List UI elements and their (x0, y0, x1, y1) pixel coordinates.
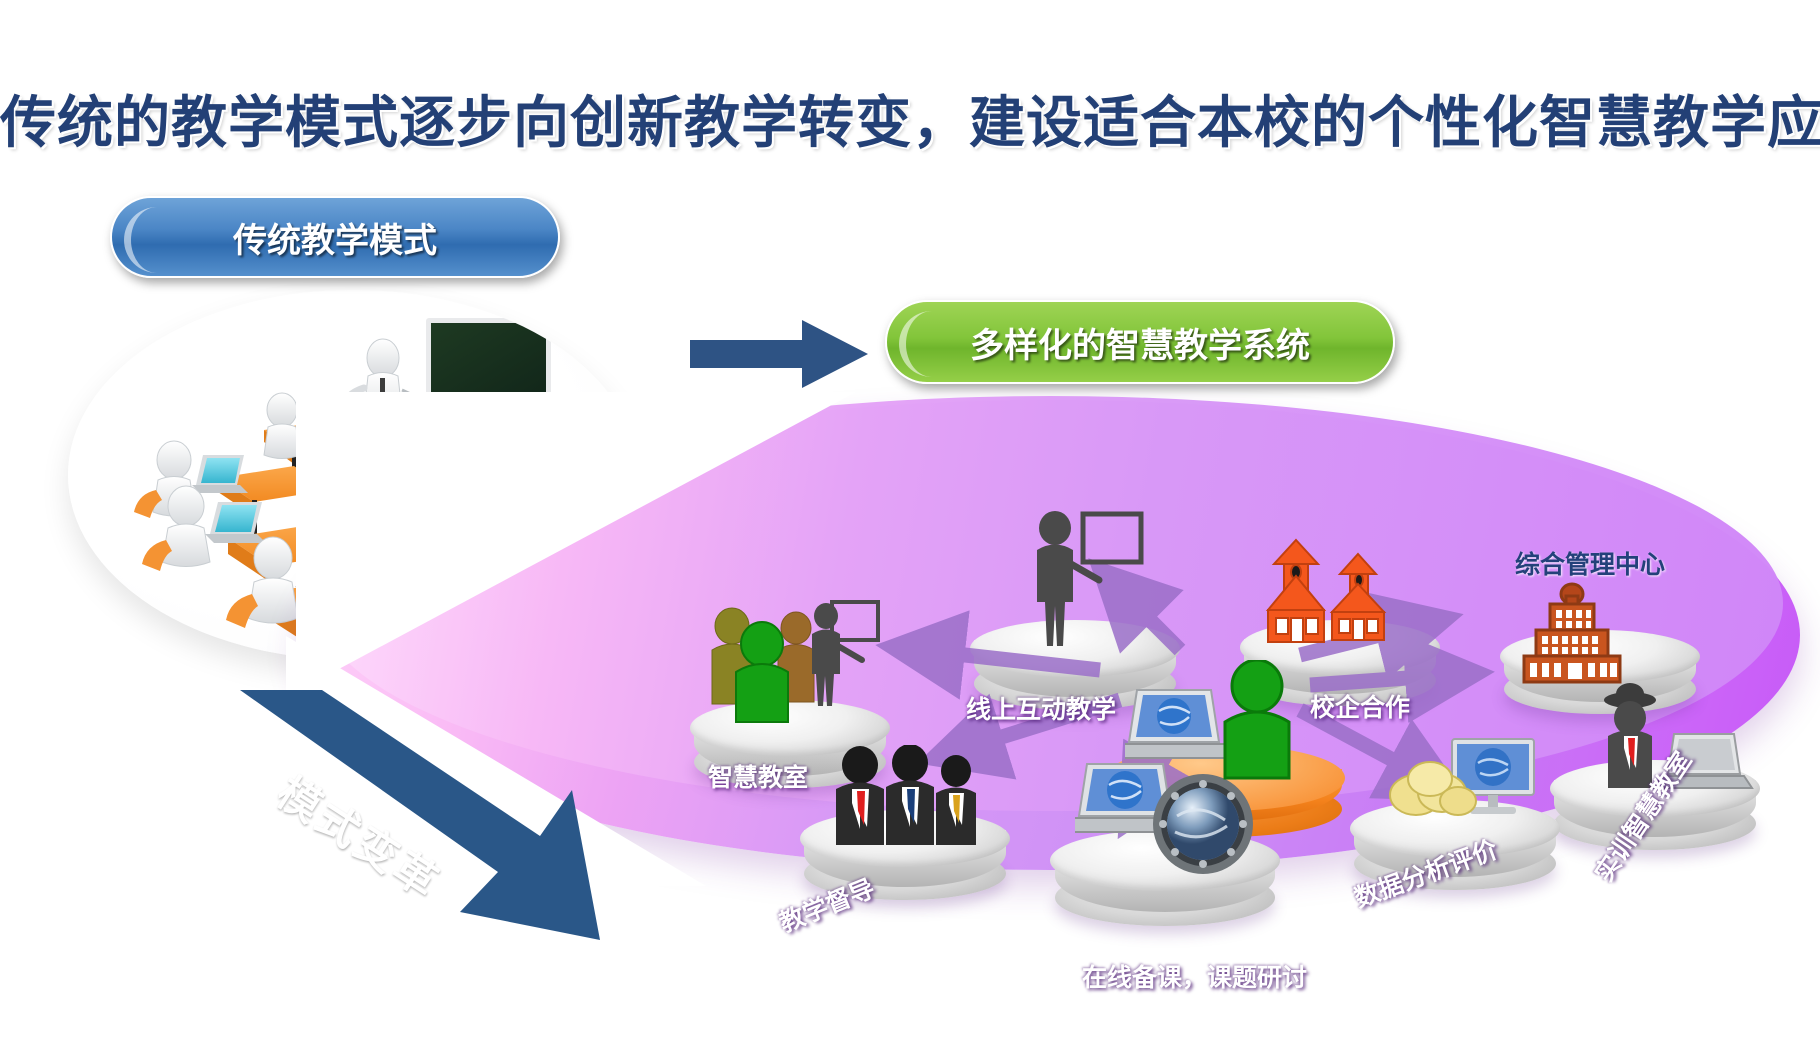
badge-highlight (899, 311, 941, 377)
block-arrow-right-icon (690, 318, 870, 390)
group-people-icon (700, 598, 880, 728)
cloud-monitor-icon (1380, 735, 1550, 845)
person-laptop-hub-icon (1125, 660, 1325, 790)
badge-traditional-teaching[interactable]: 传统教学模式 (110, 196, 560, 278)
suited-people-icon (828, 745, 998, 855)
label-school-enterprise: 校企合作 (1310, 688, 1410, 724)
label-online-interactive: 线上互动教学 (966, 690, 1116, 726)
presenter-icon (1015, 508, 1150, 648)
badge-traditional-label: 传统教学模式 (233, 213, 437, 262)
badge-smart-label: 多样化的智慧教学系统 (970, 318, 1310, 367)
transform-arrow (690, 318, 870, 390)
badge-highlight (124, 207, 166, 273)
office-building-icon (1520, 580, 1630, 690)
page-title: 传统的教学模式逐步向创新教学转变，建设适合本校的个性化智慧教学应用 (0, 78, 1820, 159)
school-buildings-icon (1258, 528, 1428, 648)
label-management-center: 综合管理中心 (1515, 545, 1665, 581)
badge-smart-system[interactable]: 多样化的智慧教学系统 (885, 300, 1395, 384)
label-online-prep: 在线备课，课题研讨 (1082, 958, 1307, 994)
label-smart-classroom: 智慧教室 (708, 758, 808, 794)
